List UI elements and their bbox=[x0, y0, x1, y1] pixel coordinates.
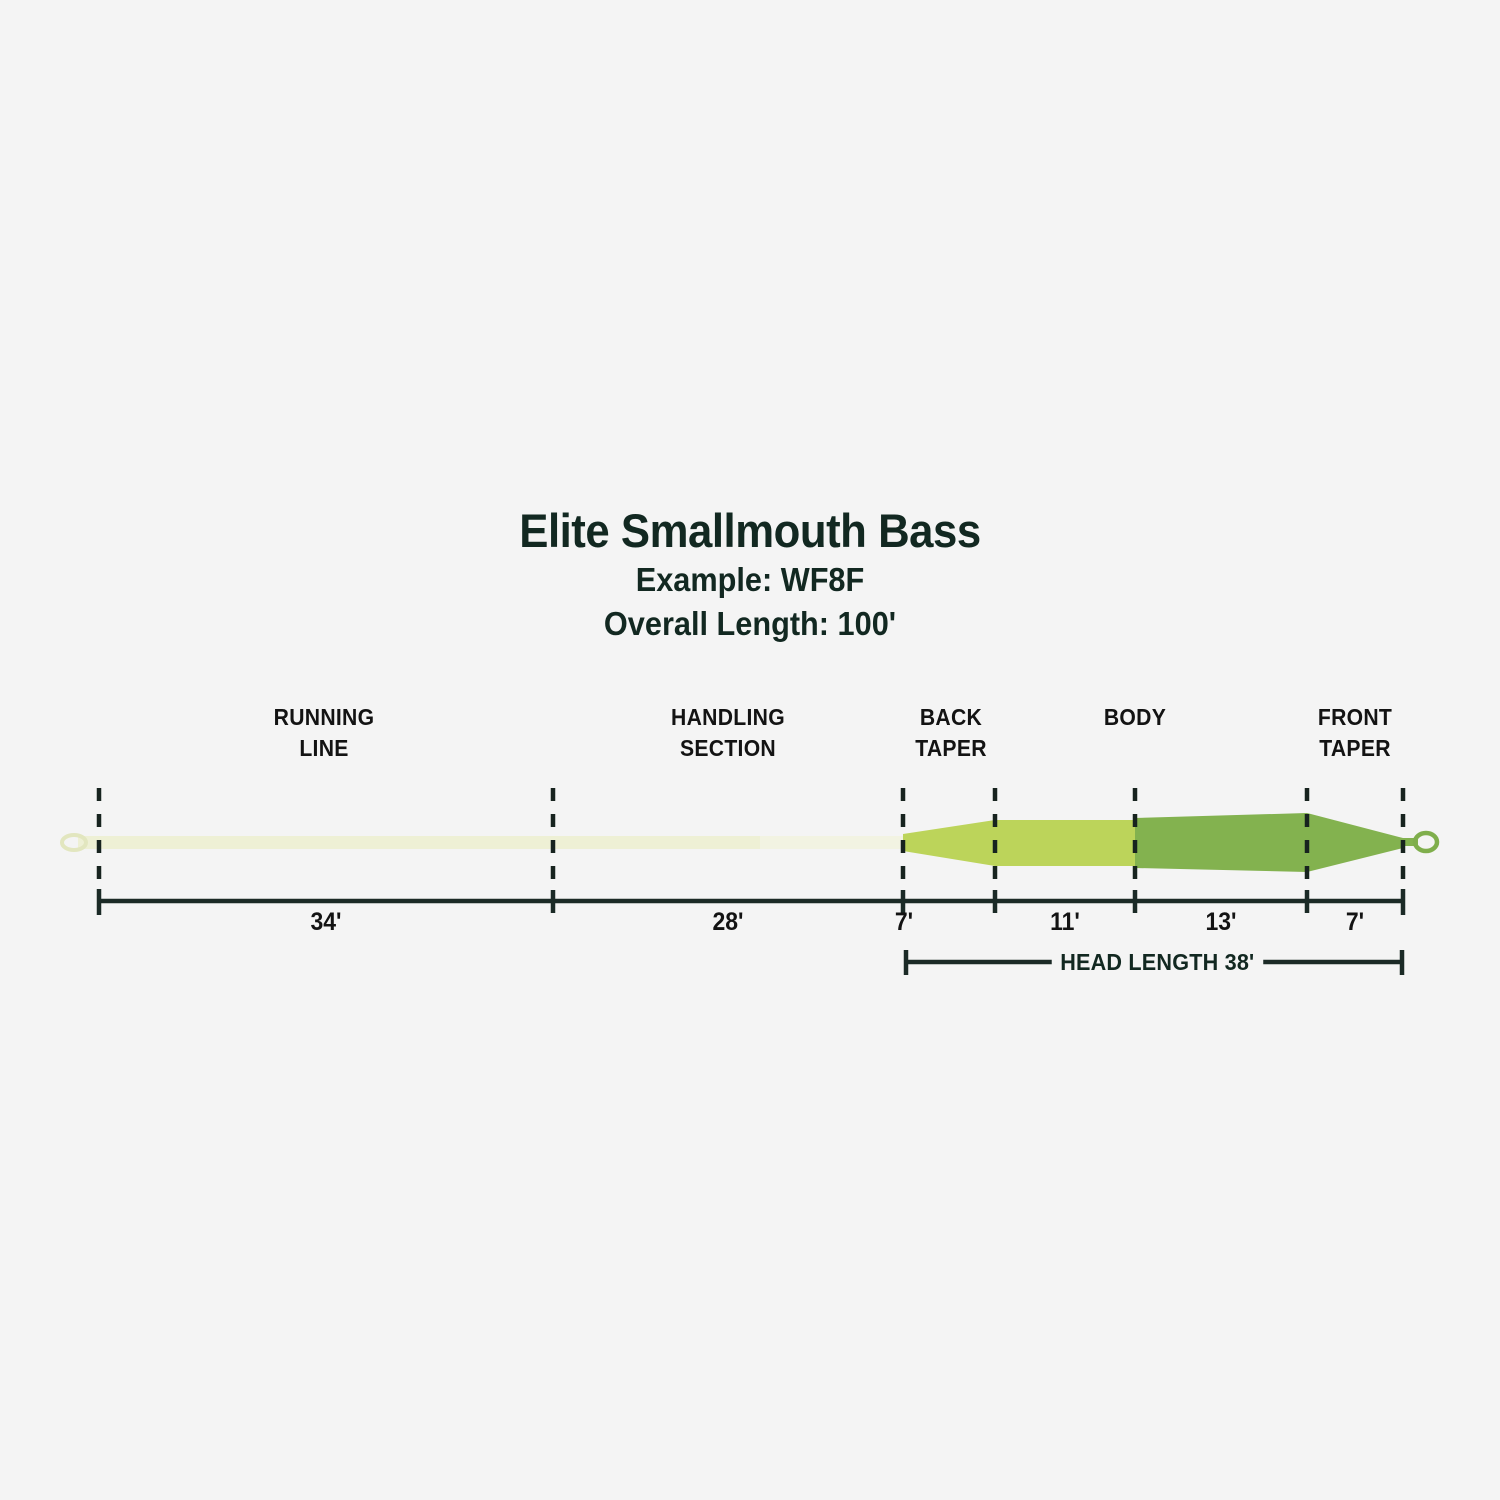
measure-front-taper: 7' bbox=[1341, 908, 1369, 937]
measure-body-dark: 13' bbox=[1184, 908, 1258, 937]
front-taper-profile bbox=[1307, 813, 1403, 872]
body-light-profile bbox=[995, 820, 1135, 866]
handling-section-fade bbox=[760, 836, 905, 849]
segment-label-handling-section: HANDLING SECTION bbox=[638, 702, 818, 763]
measure-back-taper: 7' bbox=[890, 908, 918, 937]
measure-handling-section: 28' bbox=[636, 908, 820, 937]
segment-label-running-line: RUNNING LINE bbox=[234, 702, 414, 763]
segment-label-back-taper: BACK TAPER bbox=[877, 702, 1024, 763]
measure-body-light: 11' bbox=[1028, 908, 1102, 937]
head-length-label: HEAD LENGTH 38' bbox=[1052, 949, 1263, 976]
body-dark-profile bbox=[1135, 813, 1307, 872]
fly-line-taper-diagram: Elite Smallmouth Bass Example: WF8F Over… bbox=[0, 0, 1500, 1500]
measure-running-line: 34' bbox=[234, 908, 418, 937]
front-loop-icon bbox=[1415, 833, 1437, 851]
segment-label-front-taper: FRONT TAPER bbox=[1281, 702, 1428, 763]
segment-label-body: BODY bbox=[1061, 702, 1208, 733]
back-taper-profile bbox=[903, 820, 995, 866]
